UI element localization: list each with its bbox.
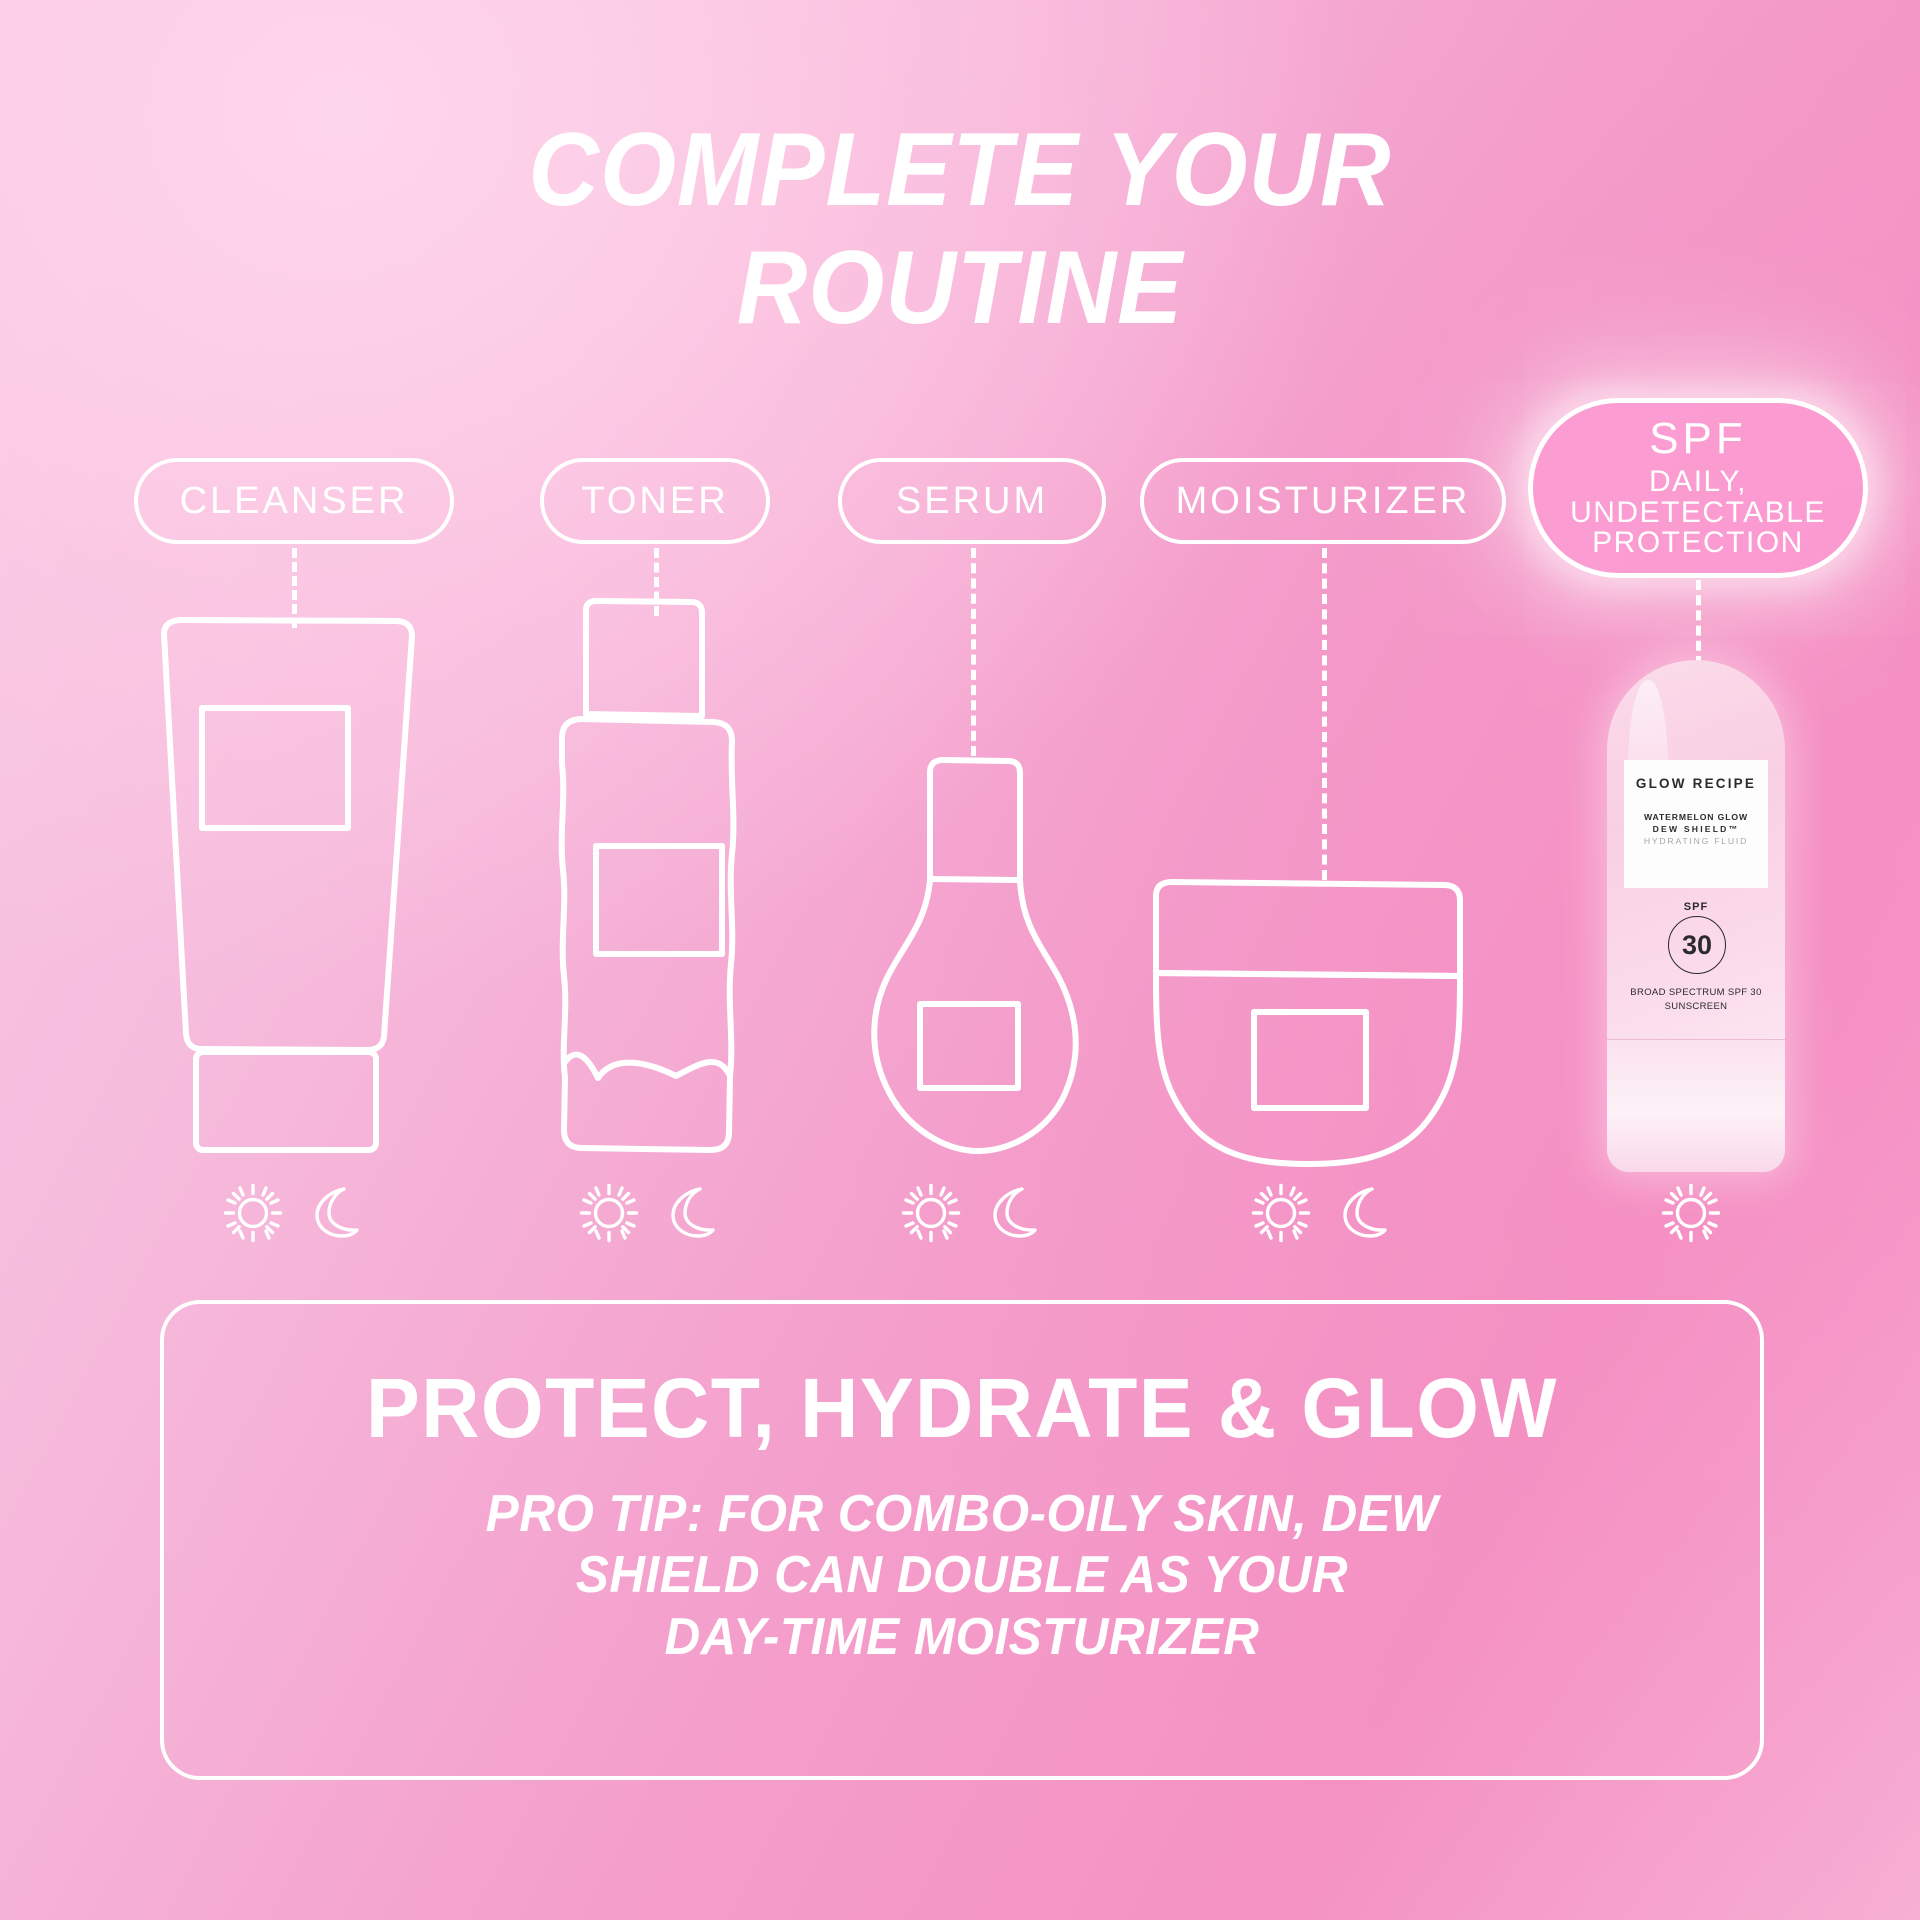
toner-bottle-illustration — [552, 592, 768, 1172]
step-pill-moisturizer-label: MOISTURIZER — [1176, 480, 1471, 523]
bottle-claim-line-2: SUNSCREEN — [1607, 1000, 1785, 1014]
bottom-pro-tip: PRO TIP: FOR COMBO-OILY SKIN, DEW SHIELD… — [204, 1484, 1720, 1668]
bottle-brand: GLOW RECIPE — [1636, 776, 1756, 791]
sun-icon — [1250, 1182, 1312, 1244]
moon-icon — [982, 1184, 1040, 1242]
step-pill-spf-title: SPF — [1649, 417, 1747, 461]
page-title-line-1: COMPLETE YOUR — [58, 112, 1863, 230]
bottle-label: GLOW RECIPE WATERMELON GLOW DEW SHIELD™ … — [1624, 760, 1768, 888]
step-pill-cleanser[interactable]: CLEANSER — [134, 458, 454, 544]
step-pill-toner[interactable]: TONER — [540, 458, 770, 544]
moon-icon — [660, 1184, 718, 1242]
connector-line-moisturizer — [1322, 548, 1327, 880]
step-pill-spf[interactable]: SPF DAILY, UNDETECTABLE PROTECTION — [1528, 398, 1868, 578]
step-pill-cleanser-label: CLEANSER — [180, 480, 409, 523]
bottle-product-name-line-2: DEW SHIELD™ — [1653, 824, 1740, 834]
serum-bottle-illustration — [868, 752, 1088, 1172]
sun-icon — [900, 1182, 962, 1244]
step-pill-moisturizer[interactable]: MOISTURIZER — [1140, 458, 1506, 544]
promo-graphic: COMPLETE YOUR ROUTINE CLEANSER TONER SER… — [0, 0, 1920, 1920]
step-pill-spf-subtitle-line-2: UNDETECTABLE — [1570, 498, 1826, 529]
step-pill-spf-subtitle-line-1: DAILY, — [1570, 467, 1826, 498]
bottle-spf-value: 30 — [1668, 916, 1726, 974]
page-title: COMPLETE YOUR ROUTINE — [58, 112, 1863, 347]
usage-icons-serum — [900, 1182, 1040, 1244]
bottle-product-name-line-1: WATERMELON GLOW — [1644, 812, 1748, 824]
step-pill-serum-label: SERUM — [896, 480, 1048, 523]
bottle-claim-line-1: BROAD SPECTRUM SPF 30 — [1607, 986, 1785, 1000]
bottom-pro-tip-line-1: PRO TIP: FOR COMBO-OILY SKIN, DEW — [204, 1484, 1720, 1545]
sun-icon — [578, 1182, 640, 1244]
bottle-base — [1607, 1039, 1785, 1172]
bottle-spf-badge: SPF 30 — [1665, 910, 1727, 972]
connector-line-serum — [971, 548, 976, 756]
usage-icons-toner — [578, 1182, 718, 1244]
usage-icons-moisturizer — [1250, 1182, 1390, 1244]
bottle-claim: BROAD SPECTRUM SPF 30 SUNSCREEN — [1607, 986, 1785, 1014]
bottle-spf-label: SPF — [1665, 901, 1727, 913]
sun-icon — [222, 1182, 284, 1244]
moon-icon — [304, 1184, 362, 1242]
connector-line-spf — [1696, 580, 1701, 666]
step-pill-serum[interactable]: SERUM — [838, 458, 1106, 544]
bottom-callout-panel: PROTECT, HYDRATE & GLOW PRO TIP: FOR COM… — [160, 1300, 1764, 1780]
cleanser-tube-illustration — [150, 612, 430, 1172]
bottom-pro-tip-line-3: DAY-TIME MOISTURIZER — [204, 1607, 1720, 1668]
step-pill-spf-subtitle: DAILY, UNDETECTABLE PROTECTION — [1570, 467, 1826, 560]
bottle-product-name-line-3: HYDRATING FLUID — [1644, 836, 1748, 846]
usage-icons-spf — [1660, 1182, 1722, 1244]
bottom-headline: PROTECT, HYDRATE & GLOW — [196, 1366, 1728, 1450]
dew-shield-bottle[interactable]: GLOW RECIPE WATERMELON GLOW DEW SHIELD™ … — [1607, 660, 1785, 1172]
usage-icons-cleanser — [222, 1182, 362, 1244]
bottom-pro-tip-line-2: SHIELD CAN DOUBLE AS YOUR — [204, 1545, 1720, 1606]
moon-icon — [1332, 1184, 1390, 1242]
moisturizer-jar-illustration — [1140, 872, 1476, 1172]
page-title-line-2: ROUTINE — [58, 230, 1863, 348]
step-pill-spf-subtitle-line-3: PROTECTION — [1570, 528, 1826, 559]
sun-icon — [1660, 1182, 1722, 1244]
step-pill-toner-label: TONER — [581, 480, 728, 523]
